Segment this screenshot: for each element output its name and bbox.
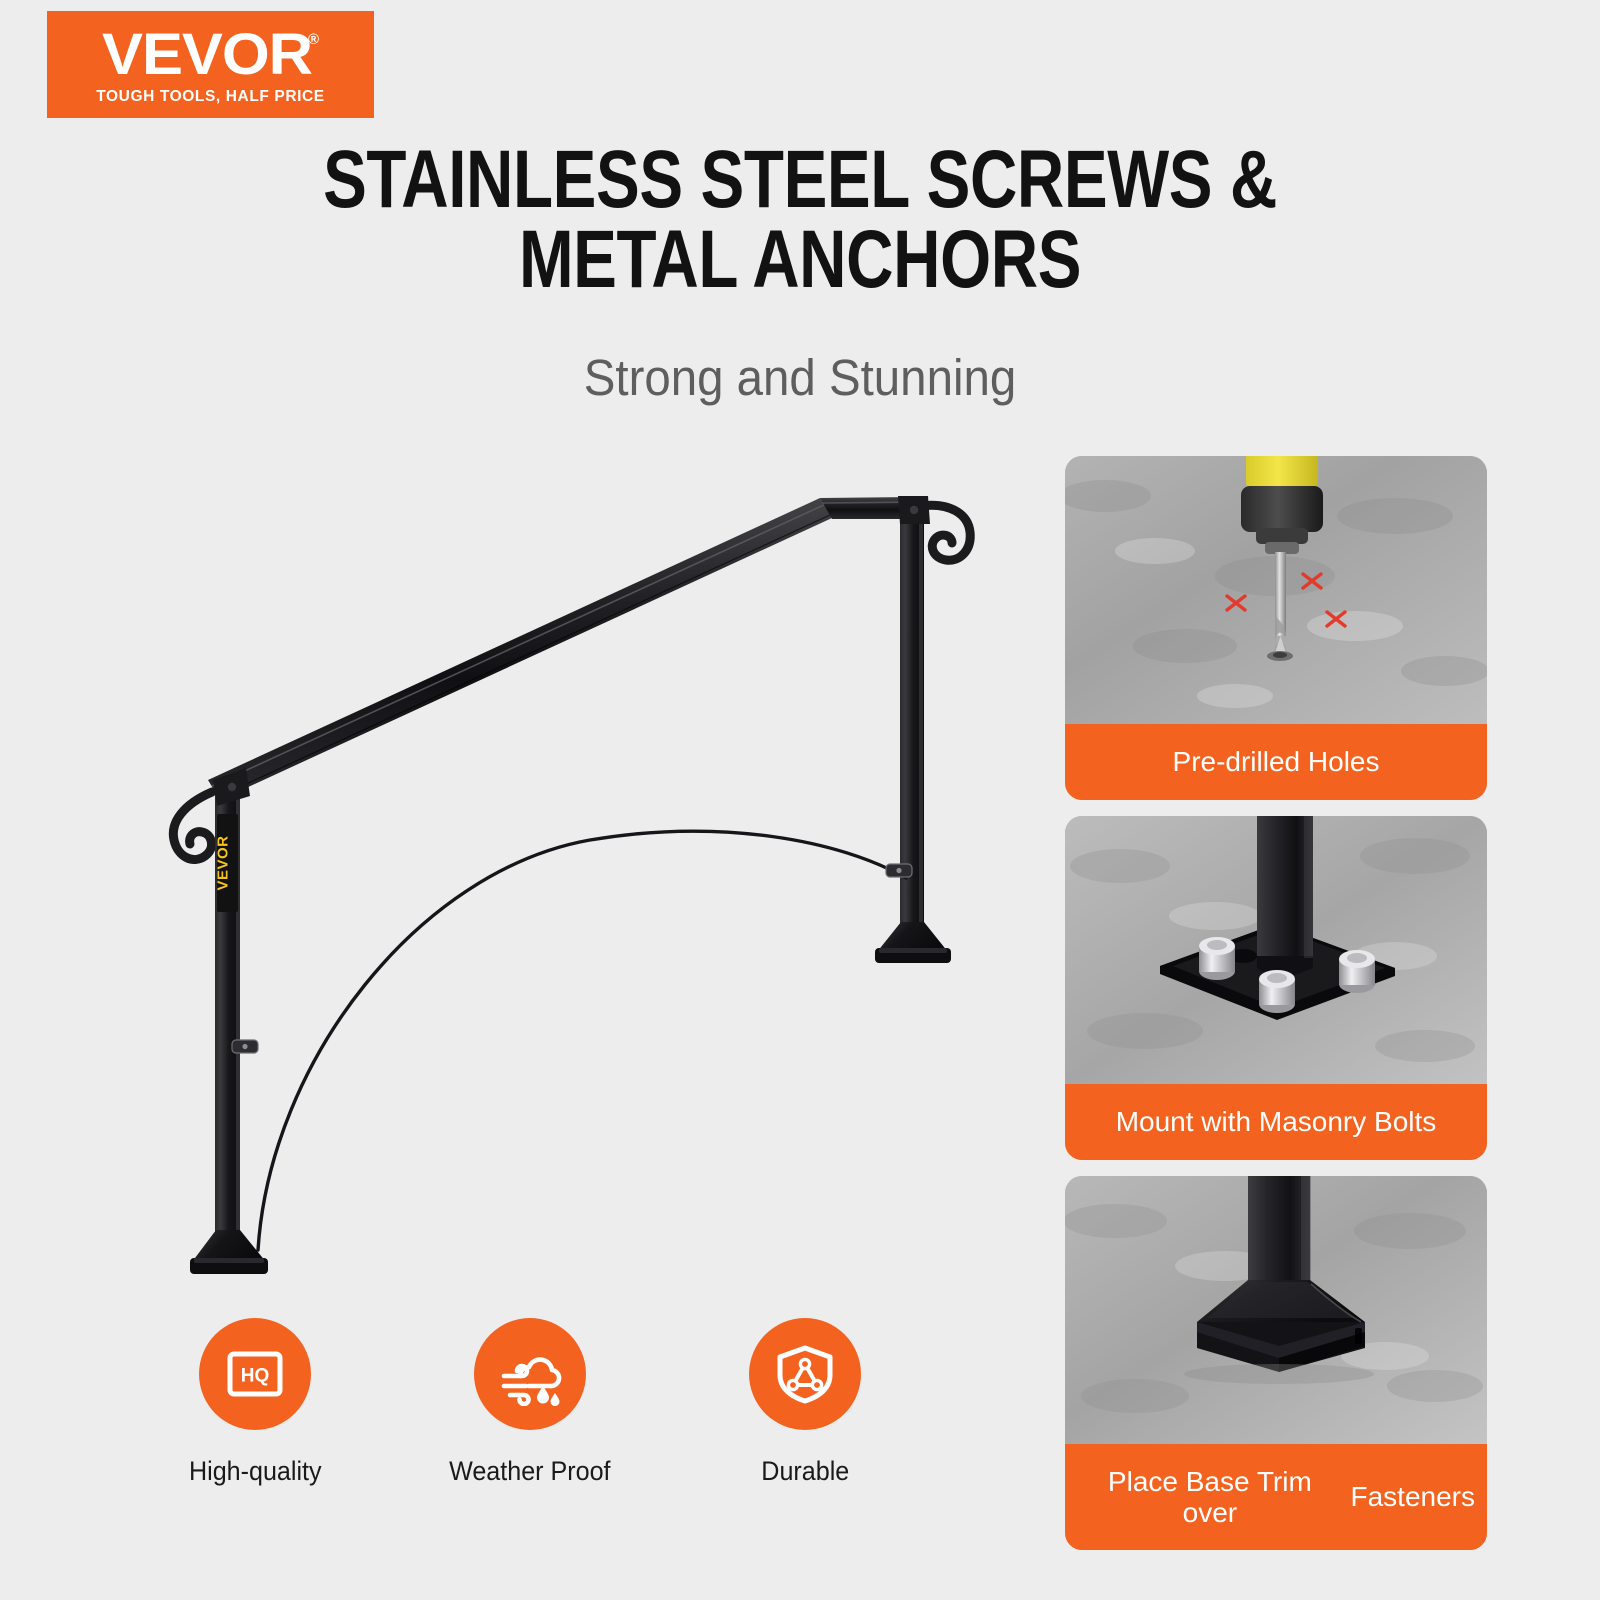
feature-durable: Durable — [700, 1318, 910, 1548]
svg-text:VEVOR: VEVOR — [215, 835, 232, 890]
top-rail — [208, 498, 832, 800]
feature-badge-row: HQ High-quality Weather Proof — [150, 1318, 910, 1548]
hero-product-image: VEVOR — [120, 440, 980, 1290]
step-caption: Place Base Trim over Fasteners — [1065, 1444, 1487, 1550]
brand-tagline: TOUGH TOOLS, HALF PRICE — [96, 88, 325, 106]
feature-icon-circle — [749, 1318, 861, 1430]
base-trim-left — [192, 1230, 266, 1262]
hq-badge-icon: HQ — [223, 1342, 287, 1406]
masonry-bolt — [1259, 970, 1295, 1013]
vevor-logo: VEVOR ® TOUGH TOOLS, HALF PRICE — [47, 11, 374, 118]
cloud-wind-rain-icon — [496, 1342, 564, 1406]
shield-molecule-icon — [773, 1342, 837, 1406]
feature-icon-circle: HQ — [199, 1318, 311, 1430]
handrail-illustration: VEVOR — [120, 440, 980, 1290]
step-photo — [1065, 456, 1487, 724]
headline-line-2: METAL ANCHORS — [160, 220, 1440, 300]
page-subtitle: Strong and Stunning — [56, 348, 1544, 407]
feature-label: Weather Proof — [449, 1456, 610, 1487]
feature-icon-circle — [474, 1318, 586, 1430]
step-caption-line-2: Fasteners — [1351, 1481, 1476, 1512]
page-title: STAINLESS STEEL SCREWS & METAL ANCHORS — [160, 140, 1440, 301]
feature-label: High-quality — [189, 1456, 322, 1487]
step-caption: Mount with Masonry Bolts — [1065, 1084, 1487, 1160]
step-caption-line-1: Place Base Trim over — [1077, 1466, 1343, 1529]
arch-clamp-right — [886, 864, 912, 877]
scroll-end-left — [173, 792, 212, 859]
post-left: VEVOR — [190, 768, 268, 1274]
arch-clamp-left — [232, 1040, 258, 1053]
step-card-mount-with-masonry-bolts: Mount with Masonry Bolts — [1065, 816, 1487, 1160]
masonry-bolt — [1199, 937, 1235, 980]
feature-weather-proof: Weather Proof — [425, 1318, 635, 1548]
product-infographic-page: VEVOR ® TOUGH TOOLS, HALF PRICE STAINLES… — [0, 0, 1600, 1600]
post-right — [875, 496, 951, 963]
step-photo — [1065, 1176, 1487, 1444]
step-caption: Pre-drilled Holes — [1065, 724, 1487, 800]
feature-high-quality: HQ High-quality — [150, 1318, 360, 1548]
brand-wordmark: VEVOR — [102, 27, 312, 82]
masonry-bolt — [1339, 950, 1375, 993]
step-card-place-base-trim: Place Base Trim over Fasteners — [1065, 1176, 1487, 1550]
drill-on-concrete-image — [1065, 456, 1487, 724]
logo-wordmark-row: VEVOR ® — [102, 27, 319, 82]
feature-label: Durable — [761, 1456, 849, 1487]
step-photo — [1065, 816, 1487, 1084]
step-card-pre-drilled-holes: Pre-drilled Holes — [1065, 456, 1487, 800]
base-trim-right — [877, 922, 948, 952]
svg-text:HQ: HQ — [241, 1366, 270, 1387]
base-plate-bolts-image — [1065, 816, 1487, 1084]
headline-line-1: STAINLESS STEEL SCREWS & — [160, 140, 1440, 220]
base-trim-cover-image — [1065, 1176, 1487, 1444]
decorative-arch-bar — [258, 831, 906, 1250]
